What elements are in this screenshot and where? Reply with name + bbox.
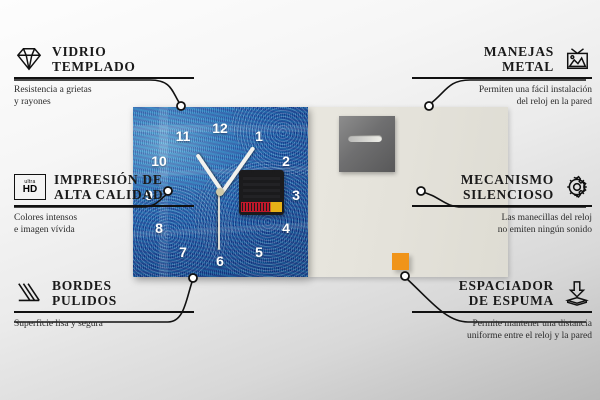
divider [14,205,194,207]
clock-center-pin [216,188,224,196]
second-hand [218,192,220,250]
feature-header: ultra HD IMPRESIÓN DEALTA CALIDAD [14,172,194,202]
beveled-edge-icon [14,280,44,306]
feature-description: Resistencia a grietasy rayones [14,84,194,108]
clock-numeral-5: 5 [251,245,267,259]
clock-numeral-2: 2 [278,154,294,168]
clock-numeral-11: 11 [175,129,191,143]
feature-description: Superficie lisa y segura [14,318,194,330]
divider [412,311,592,313]
feature-title: BORDESPULIDOS [52,278,117,308]
mechanism-body [243,176,280,198]
diamond-icon [14,46,44,72]
infographic-canvas: 12 1 2 3 4 5 6 7 8 9 10 11 [0,0,600,400]
feature-impresion-alta-calidad: ultra HD IMPRESIÓN DEALTA CALIDAD Colore… [14,172,194,236]
feature-espaciador-espuma: ESPACIADORDE ESPUMA Permite mantener una… [412,278,592,342]
feature-header: MANEJASMETAL [412,44,592,74]
feature-description: Permiten una fácil instalacióndel reloj … [412,84,592,108]
divider [412,77,592,79]
ultra-hd-icon: ultra HD [14,174,46,200]
feature-description: Colores intensose imagen vívida [14,212,194,236]
divider [14,311,194,313]
feature-manejas-metal: MANEJASMETAL Permiten una fácil instalac… [412,44,592,108]
clock-numeral-6: 6 [212,254,228,268]
clock-numeral-3: 3 [288,188,304,202]
clock-numeral-1: 1 [251,129,267,143]
feature-title: VIDRIOTEMPLADO [52,44,136,74]
down-arrow-pad-icon [562,280,592,306]
clock-numeral-7: 7 [175,245,191,259]
divider [412,205,592,207]
feature-description: Las manecillas del relojno emiten ningún… [412,212,592,236]
clock-numeral-10: 10 [151,154,167,168]
feature-description: Permite mantener una distanciauniforme e… [412,318,592,342]
feature-header: MECANISMOSILENCIOSO [412,172,592,202]
feature-header: ESPACIADORDE ESPUMA [412,278,592,308]
gear-icon [562,174,592,200]
clock-mechanism [239,170,284,215]
feature-header: VIDRIOTEMPLADO [14,44,194,74]
metal-hanger-plate [339,116,395,172]
feature-title: MANEJASMETAL [484,44,554,74]
feature-header: BORDESPULIDOS [14,278,194,308]
feature-title: MECANISMOSILENCIOSO [461,172,554,202]
picture-frame-icon [562,46,592,72]
mechanism-label-bars [242,203,270,211]
feature-bordes-pulidos: BORDESPULIDOS Superficie lisa y segura [14,278,194,330]
feature-mecanismo-silencioso: MECANISMOSILENCIOSO Las manecillas del r… [412,172,592,236]
clock-numeral-12: 12 [212,121,228,135]
feature-title: IMPRESIÓN DEALTA CALIDAD [54,172,163,202]
hanger-slot [348,135,382,142]
clock-numeral-4: 4 [278,221,294,235]
ultra-hd-icon-main: HD [23,185,37,195]
foam-spacer [392,253,409,270]
feature-vidrio-templado: VIDRIOTEMPLADO Resistencia a grietasy ra… [14,44,194,108]
feature-title: ESPACIADORDE ESPUMA [459,278,554,308]
divider [14,77,194,79]
